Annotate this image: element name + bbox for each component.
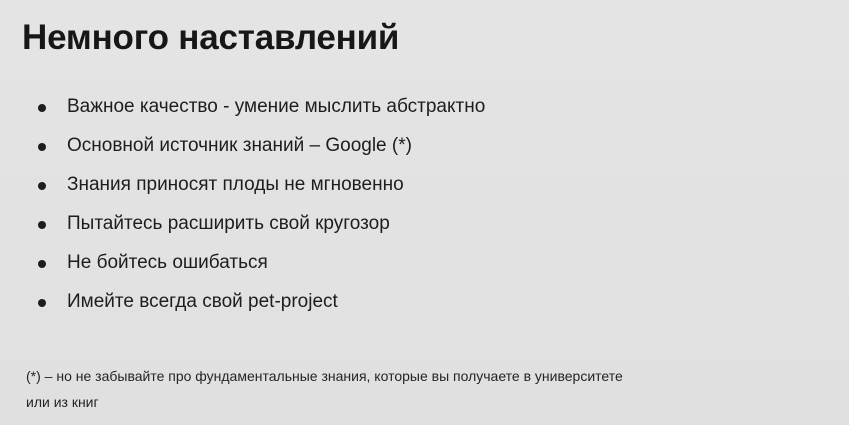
list-item-label: Не бойтесь ошибаться [67, 252, 268, 275]
page-title: Немного наставлений [22, 19, 399, 58]
list-item-label: Имейте всегда свой pet-project [67, 291, 338, 314]
list-item: Пытайтесь расширить свой кругозор [0, 205, 849, 244]
list-item: Важное качество - умение мыслить абстрак… [0, 88, 849, 127]
bullet-point-icon [38, 221, 46, 229]
bullet-point-icon [38, 182, 46, 190]
footnote-line-1: (*) – но не забывайте про фундаментальны… [26, 363, 816, 389]
list-item-label: Основной источник знаний – Google (*) [67, 135, 412, 158]
bullet-list: Важное качество - умение мыслить абстрак… [0, 88, 849, 322]
bullet-point-icon [38, 260, 46, 268]
footnote-line-2: или из книг [26, 389, 816, 415]
list-item: Имейте всегда свой pet-project [0, 283, 849, 322]
list-item-label: Знания приносят плоды не мгновенно [67, 174, 404, 197]
bullet-point-icon [38, 104, 46, 112]
bullet-point-icon [38, 299, 46, 307]
bullet-point-icon [38, 143, 46, 151]
list-item: Не бойтесь ошибаться [0, 244, 849, 283]
list-item-label: Пытайтесь расширить свой кругозор [67, 213, 390, 236]
presentation-slide: Немного наставлений Важное качество - ум… [0, 0, 849, 425]
list-item: Основной источник знаний – Google (*) [0, 127, 849, 166]
list-item: Знания приносят плоды не мгновенно [0, 166, 849, 205]
list-item-label: Важное качество - умение мыслить абстрак… [67, 96, 485, 119]
footnote: (*) – но не забывайте про фундаментальны… [26, 363, 816, 415]
